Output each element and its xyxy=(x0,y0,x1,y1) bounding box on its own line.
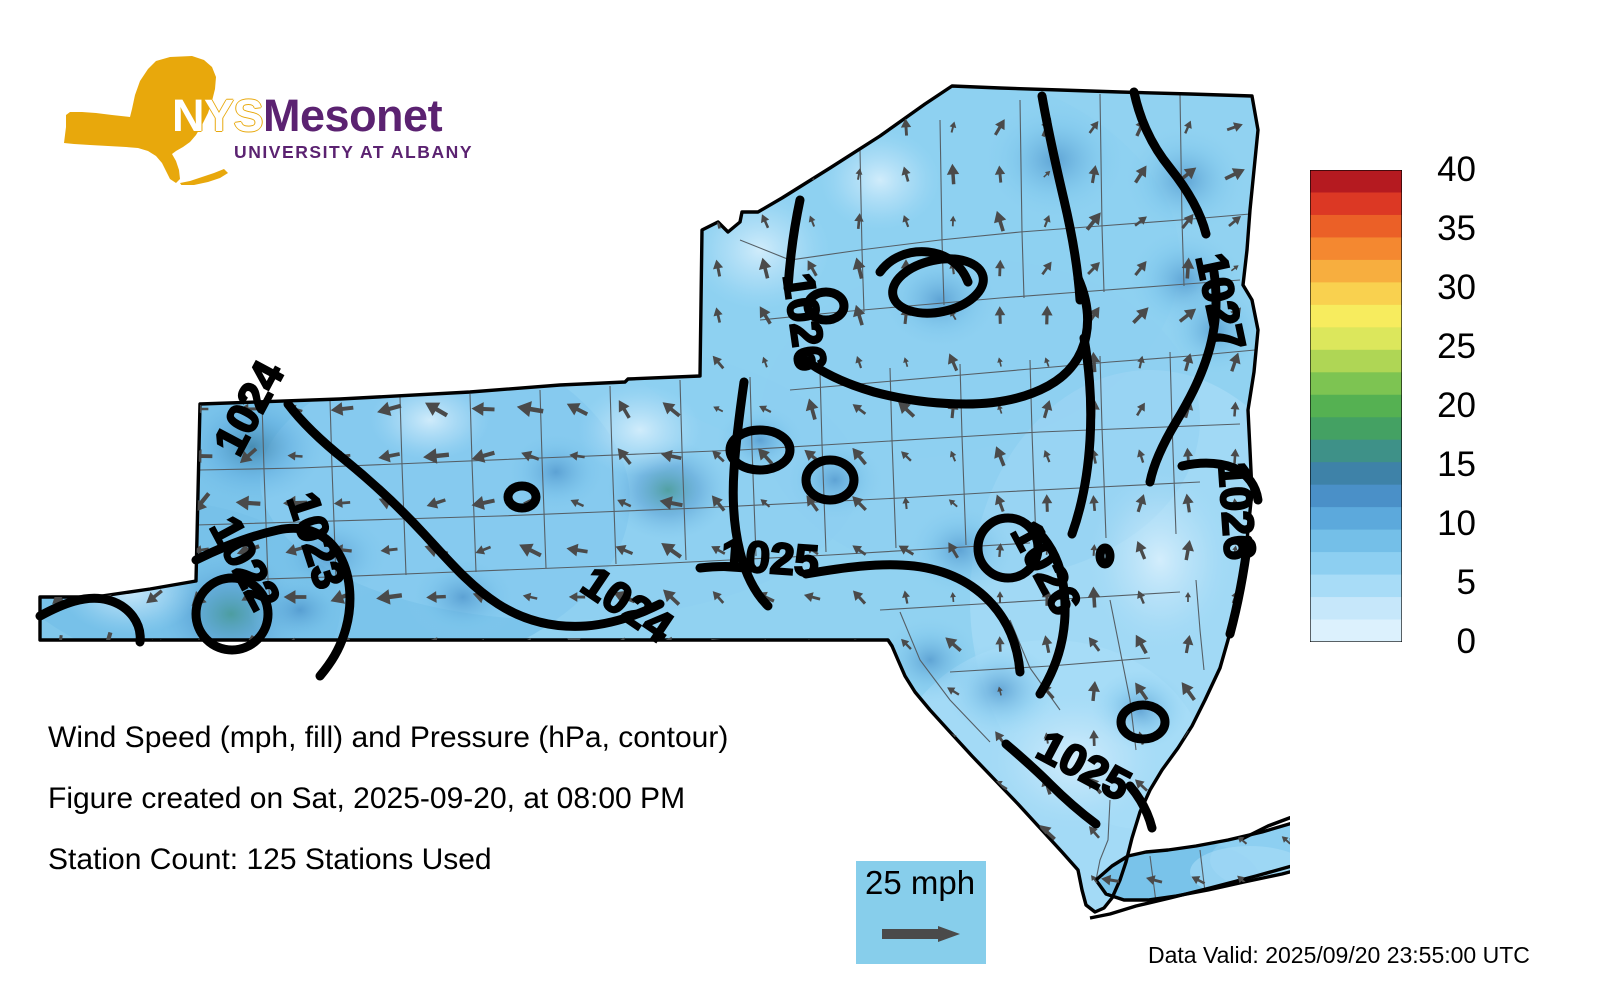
wind-arrow xyxy=(425,68,447,92)
wind-arrow xyxy=(95,117,119,138)
wind-arrow xyxy=(806,734,817,742)
wind-arrow xyxy=(236,307,260,324)
wind-arrow xyxy=(755,162,775,187)
wind-arrow xyxy=(756,872,774,885)
wind-arrow xyxy=(474,918,491,934)
wind-arrow xyxy=(145,683,164,699)
wind-arrow xyxy=(1088,73,1099,87)
wind-arrow xyxy=(379,914,398,938)
wind-arrow xyxy=(658,821,685,843)
wind-arrow xyxy=(518,209,543,233)
wind-arrow xyxy=(758,72,772,89)
wind-arrow xyxy=(658,113,683,141)
wind-arrow xyxy=(193,263,208,273)
wind-arrow xyxy=(281,164,308,184)
wind-arrow xyxy=(375,66,403,95)
wind-arrow xyxy=(612,348,636,377)
wind-arrow xyxy=(521,356,539,369)
colorbar-tick-20: 20 xyxy=(1414,385,1476,427)
wind-arrow xyxy=(517,681,543,701)
wind-arrow xyxy=(615,919,634,932)
wind-arrow xyxy=(475,166,491,182)
wind-arrow xyxy=(712,686,723,695)
wind-arrow xyxy=(613,257,635,278)
wind-arrow xyxy=(518,306,542,324)
wind-arrow xyxy=(52,215,68,228)
wind-arrow xyxy=(426,308,446,321)
wind-arrow xyxy=(615,114,633,140)
wind-arrow xyxy=(45,68,74,92)
wind-arrow xyxy=(330,212,353,230)
wind-arrow xyxy=(710,163,727,184)
wind-arrow xyxy=(233,67,262,94)
wind-arrow xyxy=(283,821,308,842)
wind-arrow xyxy=(333,260,352,277)
wind-arrow xyxy=(517,914,543,939)
wind-arrow xyxy=(854,74,863,86)
wind-arrow xyxy=(381,308,398,322)
wind-arrow xyxy=(102,918,112,934)
wind-arrow xyxy=(327,914,356,938)
wind-arrow xyxy=(520,870,541,888)
wind-arrow xyxy=(288,311,302,320)
wind-arrow xyxy=(757,733,773,743)
reference-arrow-icon xyxy=(880,917,964,951)
wind-arrow xyxy=(381,823,398,842)
wind-arrow xyxy=(327,115,356,140)
wind-arrow xyxy=(188,71,214,89)
wind-arrow xyxy=(191,355,211,370)
wind-arrow xyxy=(190,165,211,182)
wind-arrow xyxy=(284,70,305,90)
contour-label-1025-4: 1025 xyxy=(719,531,820,587)
wind-arrow xyxy=(713,120,722,134)
wind-arrow xyxy=(140,306,167,324)
wind-arrow xyxy=(474,356,491,368)
wind-arrow xyxy=(852,682,867,699)
wind-arrow xyxy=(659,870,684,887)
wind-arrow xyxy=(802,918,821,935)
wind-arrow xyxy=(1038,870,1055,887)
wind-arrow xyxy=(424,256,449,280)
wind-arrow xyxy=(146,823,161,841)
wind-arrow xyxy=(755,683,774,700)
wind-arrow xyxy=(519,825,541,839)
wind-arrow xyxy=(188,912,215,941)
wind-arrow xyxy=(660,683,682,699)
colorbar-tick-labels: 4035302520151050 xyxy=(1414,149,1504,659)
wind-arrow xyxy=(330,307,353,324)
wind-arrow xyxy=(565,255,589,281)
wind-arrow xyxy=(143,120,165,134)
colorbar-tick-15: 15 xyxy=(1414,444,1476,486)
wind-arrow xyxy=(760,120,770,134)
wind-arrow xyxy=(145,215,163,227)
wind-arrow xyxy=(99,309,115,320)
wind-arrow xyxy=(426,917,445,934)
wind-arrow xyxy=(53,681,67,701)
wind-arrow xyxy=(563,822,591,842)
wind-arrow xyxy=(238,121,259,133)
wind-arrow xyxy=(473,211,493,231)
wind-arrow xyxy=(1136,826,1147,837)
colorbar-tick-35: 35 xyxy=(1414,208,1476,250)
wind-arrow xyxy=(1229,729,1240,746)
wind-arrow xyxy=(96,211,118,231)
wind-arrow xyxy=(1226,775,1245,795)
wind-arrow xyxy=(1184,826,1192,838)
figure-created-timestamp: Figure created on Sat, 2025-09-20, at 08… xyxy=(48,782,685,816)
wind-arrow xyxy=(98,73,116,86)
wind-arrow xyxy=(286,356,305,368)
wind-arrow xyxy=(92,537,123,564)
wind-arrow xyxy=(97,447,116,465)
wind-arrow xyxy=(237,164,260,184)
wind-arrow xyxy=(1084,916,1104,936)
wind-arrow xyxy=(191,680,212,702)
wind-arrow xyxy=(469,680,497,701)
wind-arrow xyxy=(895,730,916,746)
wind-arrow xyxy=(469,254,496,282)
wind-arrow xyxy=(659,303,682,326)
wind-arrow xyxy=(988,870,1011,888)
new-york-wind-pressure-map: 1022102310241024102510251026102610261027 xyxy=(0,0,1290,960)
wind-arrow xyxy=(1144,832,1164,848)
wind-arrow xyxy=(1228,682,1241,700)
wind-arrow xyxy=(1191,793,1206,807)
wind-arrow xyxy=(1236,796,1248,805)
wind-arrow xyxy=(375,256,404,279)
wind-arrow xyxy=(1279,794,1290,806)
wind-arrow xyxy=(753,774,777,797)
wind-arrow xyxy=(853,119,865,134)
wind-arrow xyxy=(100,823,115,842)
colorbar-tick-30: 30 xyxy=(1414,267,1476,309)
wind-arrow xyxy=(470,305,497,324)
station-count-label: Station Count: 125 Stations Used xyxy=(48,843,492,877)
wind-arrow xyxy=(804,778,821,792)
wind-arrow xyxy=(759,828,771,837)
wind-arrow xyxy=(1181,71,1196,90)
wind-arrow xyxy=(610,302,637,328)
colorbar-tick-25: 25 xyxy=(1414,326,1476,368)
wind-arrow xyxy=(47,538,73,561)
wind-arrow xyxy=(142,257,165,279)
colorbar-tick-10: 10 xyxy=(1414,503,1476,545)
wind-arrow xyxy=(423,209,449,232)
colorbar-tick-0: 0 xyxy=(1414,621,1476,663)
wind-arrow xyxy=(949,74,957,86)
wind-arrow xyxy=(50,490,71,515)
wind-arrow xyxy=(853,732,865,745)
wind-arrow xyxy=(516,163,543,185)
wind-arrow xyxy=(564,162,590,185)
wind-arrow xyxy=(804,871,821,886)
wind-arrow xyxy=(568,210,586,232)
wind-arrow xyxy=(51,166,69,181)
wind-arrow xyxy=(142,165,167,183)
wind-arrow xyxy=(378,115,400,140)
wind-arrow xyxy=(1226,70,1244,89)
colorbar-gradient xyxy=(1310,170,1402,642)
wind-arrow xyxy=(332,822,353,842)
figure-title: Wind Speed (mph, fill) and Pressure (hPa… xyxy=(48,721,728,755)
wind-arrow xyxy=(143,538,165,563)
wind-arrow xyxy=(613,163,634,186)
mesonet-wind-pressure-map-page: NYSMesonet UNIVERSITY AT ALBANY xyxy=(0,0,1600,1000)
data-valid-timestamp: Data Valid: 2025/09/20 23:55:00 UTC xyxy=(1148,942,1530,969)
wind-arrow xyxy=(1226,915,1244,936)
map-canvas: 1022102310241024102510251026102610261027 xyxy=(0,0,1290,960)
wind-arrow xyxy=(48,256,73,280)
wind-reference-arrow-key: 25 mph xyxy=(856,861,986,964)
colorbar-tick-40: 40 xyxy=(1414,149,1476,191)
wind-arrow xyxy=(328,161,356,187)
wind-arrow xyxy=(568,71,586,88)
wind-arrow xyxy=(239,916,258,936)
wind-arrow xyxy=(707,872,730,887)
wind-arrow xyxy=(807,829,818,836)
wind-arrow xyxy=(192,309,209,320)
wind-arrow xyxy=(564,681,591,702)
wind-arrow xyxy=(93,254,122,282)
wind-arrow xyxy=(379,214,398,227)
wind-arrow xyxy=(943,823,963,840)
wind-arrow xyxy=(848,825,870,838)
wind-arrow xyxy=(380,356,399,367)
colorbar-tick-5: 5 xyxy=(1414,562,1476,604)
wind-arrow xyxy=(97,494,117,512)
wind-arrow xyxy=(195,823,207,841)
wind-arrow xyxy=(139,395,170,422)
wind-arrow xyxy=(143,494,165,513)
wind-arrow xyxy=(614,68,635,92)
wind-arrow xyxy=(715,75,722,85)
wind-arrow xyxy=(96,678,118,704)
colorbar: 4035302520151050 xyxy=(1310,170,1570,650)
wind-arrow xyxy=(148,918,160,934)
wind-arrow xyxy=(610,205,638,236)
wind-arrow xyxy=(51,819,68,845)
wind-arrow xyxy=(330,680,355,701)
wind-arrow xyxy=(519,258,541,277)
reference-arrow-label: 25 mph xyxy=(865,864,975,902)
wind-arrow xyxy=(568,352,586,373)
wind-arrow xyxy=(993,921,1006,930)
wind-arrow xyxy=(95,399,118,418)
wind-arrow xyxy=(333,355,351,368)
wind-arrow xyxy=(236,259,261,278)
wind-arrow xyxy=(1133,915,1150,936)
wind-arrow xyxy=(330,70,354,90)
wind-arrow xyxy=(283,679,307,703)
wind-arrow xyxy=(568,873,587,885)
wind-arrow xyxy=(612,682,636,700)
wind-arrow xyxy=(46,394,73,424)
wind-arrow xyxy=(51,915,69,937)
wind-arrow xyxy=(144,74,163,87)
wind-arrow xyxy=(281,210,309,232)
wind-arrow xyxy=(712,826,725,837)
wind-arrow xyxy=(659,160,682,189)
wind-arrow xyxy=(1184,920,1193,931)
wind-speed-fill-mainland xyxy=(0,0,1290,960)
wind-arrow xyxy=(378,682,399,699)
wind-arrow xyxy=(899,827,913,837)
wind-arrow xyxy=(803,69,821,92)
wind-arrow xyxy=(992,825,1009,839)
wind-arrow xyxy=(1178,773,1198,798)
wind-arrow xyxy=(51,308,69,323)
wind-arrow xyxy=(284,117,307,137)
wind-arrow xyxy=(426,353,446,371)
wind-arrow xyxy=(426,685,446,698)
wind-arrow xyxy=(48,350,73,373)
wind-arrow xyxy=(189,211,213,230)
wind-arrow xyxy=(895,773,917,797)
wind-arrow xyxy=(470,820,495,844)
wind-arrow xyxy=(426,165,446,184)
wind-arrow xyxy=(1042,74,1051,86)
wind-arrow xyxy=(285,913,306,940)
wind-arrow xyxy=(193,121,210,133)
wind-arrow xyxy=(422,819,449,846)
wind-arrow xyxy=(663,67,679,93)
wind-arrow xyxy=(658,918,685,934)
wind-arrow xyxy=(284,261,307,276)
wind-arrow xyxy=(1135,73,1147,86)
wind-arrow xyxy=(380,167,398,180)
wind-arrow xyxy=(662,256,681,281)
wind-arrow xyxy=(711,778,725,791)
wind-arrow xyxy=(143,444,166,467)
wind-arrow xyxy=(756,919,774,932)
wind-arrow xyxy=(948,780,959,791)
wind-arrow xyxy=(806,118,817,135)
wind-arrow xyxy=(49,119,72,135)
wind-arrow xyxy=(516,66,544,93)
wind-arrow xyxy=(237,682,259,699)
wind-arrow xyxy=(1231,826,1239,837)
wind-arrow xyxy=(472,68,494,93)
wind-arrow xyxy=(423,116,449,138)
wind-arrow xyxy=(96,166,118,181)
contour-label-1026-8: 1026 xyxy=(1209,460,1265,561)
wind-arrow xyxy=(570,118,584,137)
wind-arrow xyxy=(660,353,682,370)
wind-arrow xyxy=(709,920,727,931)
wind-arrow xyxy=(610,820,638,845)
wind-arrow xyxy=(658,209,684,233)
wind-arrow xyxy=(849,776,869,794)
wind-arrow xyxy=(899,72,912,89)
wind-arrow xyxy=(516,114,543,140)
wind-arrow xyxy=(802,680,822,701)
wind-arrow xyxy=(475,118,492,136)
wind-arrow xyxy=(96,353,117,372)
wind-arrow xyxy=(569,309,586,322)
wind-arrow xyxy=(1038,916,1057,937)
wind-arrow xyxy=(48,444,72,468)
wind-arrow xyxy=(569,919,586,932)
wind-arrow xyxy=(234,210,262,232)
wind-arrow xyxy=(611,869,636,888)
wind-arrow xyxy=(142,349,167,375)
wind-arrow xyxy=(240,823,256,841)
